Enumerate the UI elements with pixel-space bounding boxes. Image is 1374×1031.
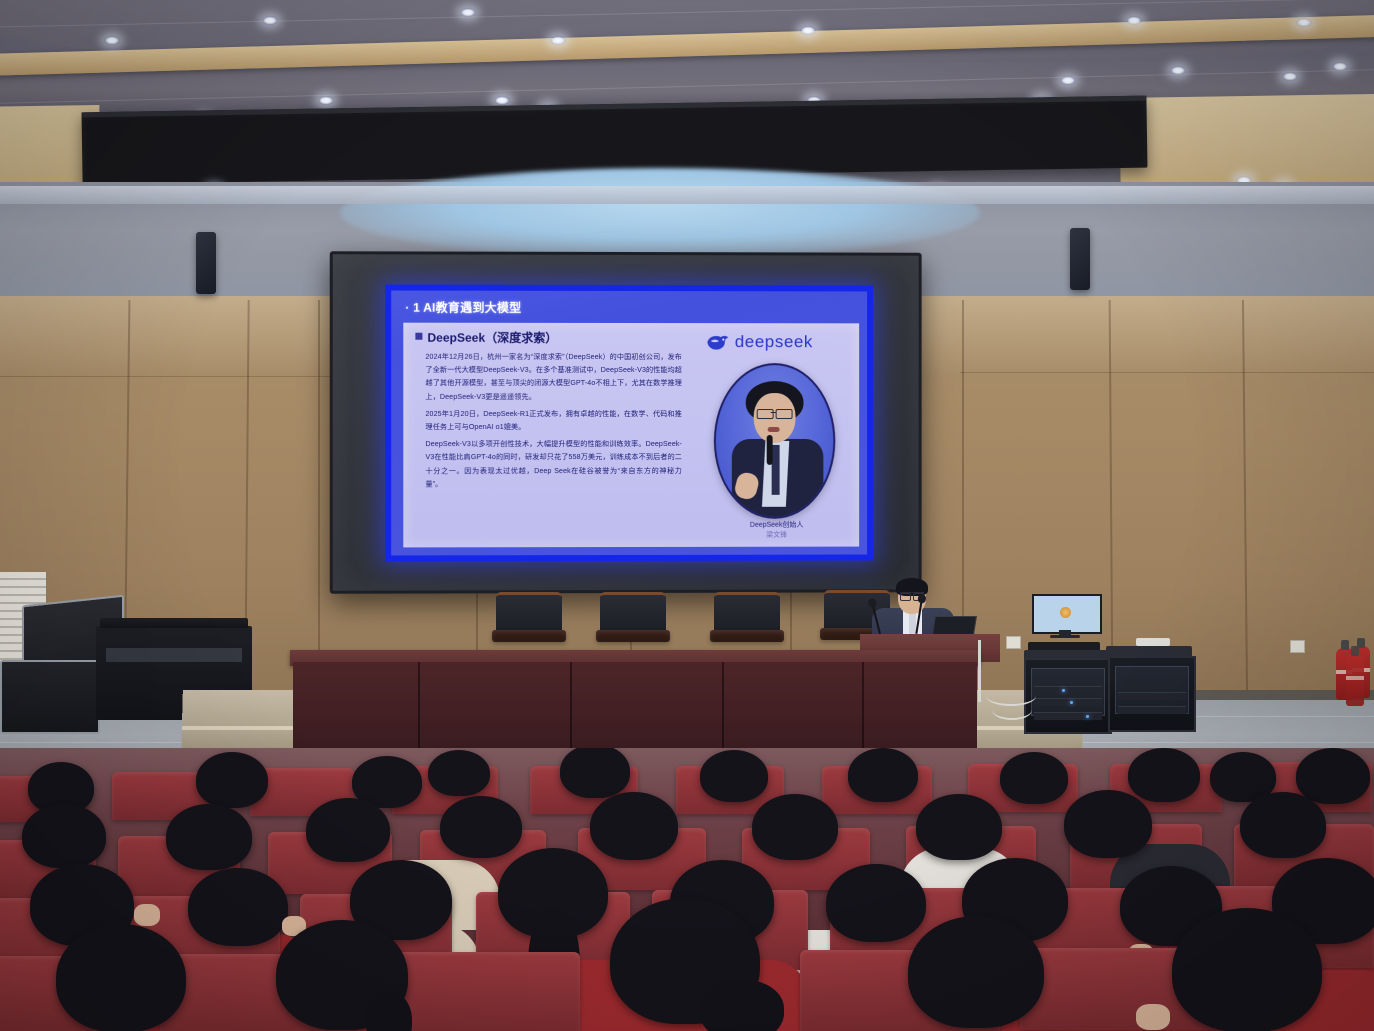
wall-panel-seam (960, 372, 1374, 373)
rack-unit (1034, 712, 1102, 720)
audience-head (1172, 908, 1322, 1031)
rack-led (1062, 689, 1065, 692)
slide-paragraph: DeepSeek-V3以多项开创性技术，大幅提升模型的性能和训练效率。DeepS… (425, 438, 682, 491)
screenshot-root: · 1 AI教育遇到大模型 DeepSeek（深度求索） 2024年12月26日… (0, 0, 1374, 1031)
audience-area (0, 748, 1374, 1031)
audience-head (848, 748, 918, 802)
chair-seat (710, 630, 784, 642)
conference-table-front (293, 662, 977, 748)
bullet-square-icon (415, 333, 422, 340)
audience-head (752, 794, 838, 860)
whale-icon (706, 332, 730, 352)
wall-speaker-right (1070, 228, 1090, 290)
wall-soffit (0, 186, 1374, 204)
wall-fixture-ring (10, 258, 50, 286)
console-slot (106, 648, 242, 662)
audience-ponytail (700, 980, 784, 1031)
av-rack-left[interactable] (1024, 658, 1112, 734)
table-panel-seam (570, 662, 572, 748)
table-panel-seam (418, 662, 420, 748)
ceiling-downlight (318, 96, 334, 105)
fire-extinguisher (1346, 654, 1364, 706)
ceiling-downlight (104, 36, 120, 45)
audience-head (908, 916, 1044, 1028)
ceiling-downlight (1332, 62, 1348, 71)
ceiling-downlight (1126, 16, 1142, 25)
slide-title: · 1 AI教育遇到大模型 (405, 299, 857, 317)
projection-screen: · 1 AI教育遇到大模型 DeepSeek（深度求索） 2024年12月26日… (330, 251, 922, 594)
conference-chair (492, 592, 566, 646)
photo-person-mouth (768, 427, 780, 432)
av-rack-right[interactable] (1108, 656, 1196, 732)
wall-speaker-left (196, 232, 216, 294)
deepseek-wordmark: deepseek (735, 332, 813, 352)
audience-head (188, 868, 288, 946)
chair-seat (596, 630, 670, 642)
table-panel-seam (722, 662, 724, 748)
audience-head (306, 798, 390, 862)
slide-paragraphs: 2024年12月26日，杭州一家名为“深度求索”（DeepSeek）的中国初创公… (425, 351, 682, 495)
audience-head (428, 750, 490, 796)
audience-head (56, 924, 186, 1031)
rack-unit (1118, 692, 1186, 700)
audience-head (440, 796, 522, 858)
audience-head (1064, 790, 1152, 858)
monitor-wallpaper-icon (1060, 607, 1071, 618)
audience-head (700, 750, 768, 802)
ceiling-downlight (460, 8, 476, 17)
slide-paragraph: 2024年12月26日，杭州一家名为“深度求索”（DeepSeek）的中国初创公… (425, 351, 682, 404)
presentation-slide: · 1 AI教育遇到大模型 DeepSeek（深度求索） 2024年12月26日… (391, 291, 867, 556)
slide-heading: DeepSeek（深度求索） (415, 329, 557, 346)
wall-panel-seam (0, 376, 330, 377)
slide-body-panel: DeepSeek（深度求索） 2024年12月26日，杭州一家名为“深度求索”（… (403, 323, 859, 548)
ceiling-downlight (1060, 76, 1076, 85)
photo-person-glasses (757, 409, 774, 419)
audience-head (560, 748, 630, 798)
control-monitor[interactable] (1032, 594, 1098, 636)
rack-unit (1034, 686, 1102, 694)
conference-chair (596, 592, 670, 646)
rack-paper (1136, 638, 1170, 646)
photo-caption-title: DeepSeek创始人 (722, 521, 831, 531)
console-top (100, 618, 248, 628)
rack-led (1086, 715, 1089, 718)
audience-head (1128, 748, 1200, 802)
ceiling-downlight (800, 26, 816, 35)
audience-head (1000, 752, 1068, 804)
photo-caption: DeepSeek创始人 梁文锋 (722, 521, 831, 541)
ceiling-downlight (550, 36, 566, 45)
flight-case-open (0, 660, 100, 734)
audience-head (166, 804, 252, 870)
wall-outlet (1006, 636, 1021, 649)
screen-image-area: · 1 AI教育遇到大模型 DeepSeek（深度求索） 2024年12月26日… (385, 285, 873, 562)
ceiling-downlight (494, 96, 510, 105)
table-panel-seam (862, 662, 864, 748)
wall-outlet (1290, 640, 1305, 653)
photo-caption-name: 梁文锋 (722, 531, 831, 541)
monitor-foot (1050, 635, 1080, 638)
ceiling-light-cove (340, 168, 980, 258)
conference-chair (710, 592, 784, 646)
photo-person-microphone (767, 435, 773, 465)
ceiling-downlight (1170, 66, 1186, 75)
rack-led (1070, 701, 1073, 704)
audience-hand (134, 904, 160, 926)
rack-unit (1034, 698, 1102, 706)
ceiling-downlight (1282, 72, 1298, 81)
slide-heading-text: DeepSeek（深度求索） (427, 331, 557, 345)
ceiling-downlight (1296, 18, 1312, 27)
audience-head (590, 792, 678, 860)
audience-head (1296, 748, 1370, 804)
audience-hand (1136, 1004, 1170, 1030)
photo-person-tie (772, 445, 780, 495)
extinguisher-band (1346, 676, 1364, 680)
audience-head (196, 752, 268, 808)
deepseek-logo: deepseek (706, 329, 845, 355)
photo-person-glasses-bridge (771, 412, 777, 413)
photo-person-glasses (776, 409, 793, 419)
founder-photo (714, 363, 835, 519)
audience-head (916, 794, 1002, 860)
slide-paragraph: 2025年1月20日，DeepSeek-R1正式发布，拥有卓越的性能，在数学、代… (425, 408, 682, 434)
ceiling-downlight (262, 16, 278, 25)
chair-seat (492, 630, 566, 642)
cable (992, 700, 1032, 720)
cable-vertical (978, 640, 981, 702)
audience-head (826, 864, 926, 942)
audience-head (1240, 792, 1326, 858)
wall-panel-seam (318, 300, 320, 680)
rack-unit (1118, 706, 1186, 714)
audience-head (22, 804, 106, 868)
